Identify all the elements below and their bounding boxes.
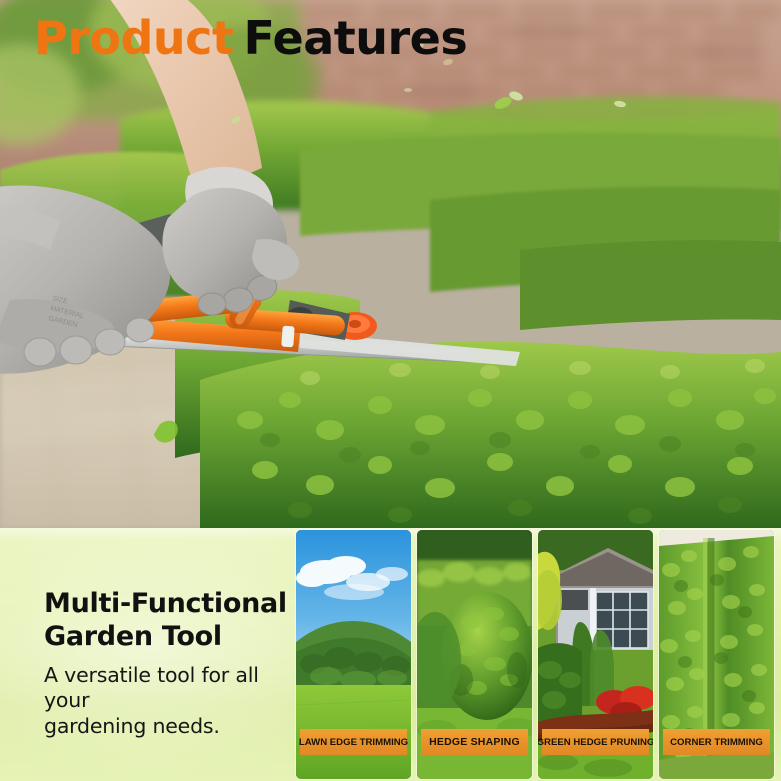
thumbnail-lawn-edge-trimming[interactable]: LAWN EDGE TRIMMING — [296, 530, 411, 779]
thumbnail-corner-trimming[interactable]: CORNER TRIMMING — [659, 530, 774, 779]
title-word-product: Product — [34, 11, 233, 65]
feature-panel: Multi-Functional Garden Tool A versatile… — [0, 528, 781, 781]
promo-heading: Multi-Functional Garden Tool — [44, 588, 292, 654]
hero-illustration: SIZE MATERIAL GARDEN — [0, 0, 781, 528]
promo-subtitle-line1: A versatile tool for all your — [44, 663, 259, 712]
thumbnail-row: LAWN EDGE TRIMMING — [296, 530, 774, 780]
hero-image: SIZE MATERIAL GARDEN — [0, 0, 781, 528]
product-features-graphic: SIZE MATERIAL GARDEN — [0, 0, 781, 781]
page-title: ProductFeatures — [34, 14, 467, 62]
promo-heading-line2: Garden Tool — [44, 621, 222, 652]
thumbnail-caption: LAWN EDGE TRIMMING — [300, 729, 407, 755]
thumbnail-caption: CORNER TRIMMING — [663, 729, 770, 755]
thumbnail-hedge-shaping[interactable]: HEDGE SHAPING — [417, 530, 532, 779]
title-word-features: Features — [243, 11, 467, 65]
thumbnail-caption: GREEN HEDGE PRUNING — [542, 729, 649, 755]
promo-subtitle: A versatile tool for all your gardening … — [44, 663, 292, 739]
promo-subtitle-line2: gardening needs. — [44, 714, 220, 738]
promo-copy: Multi-Functional Garden Tool A versatile… — [44, 588, 292, 739]
thumbnail-green-hedge-pruning[interactable]: GREEN HEDGE PRUNING — [538, 530, 653, 779]
promo-heading-line1: Multi-Functional — [44, 588, 287, 619]
thumbnail-caption: HEDGE SHAPING — [421, 729, 528, 755]
